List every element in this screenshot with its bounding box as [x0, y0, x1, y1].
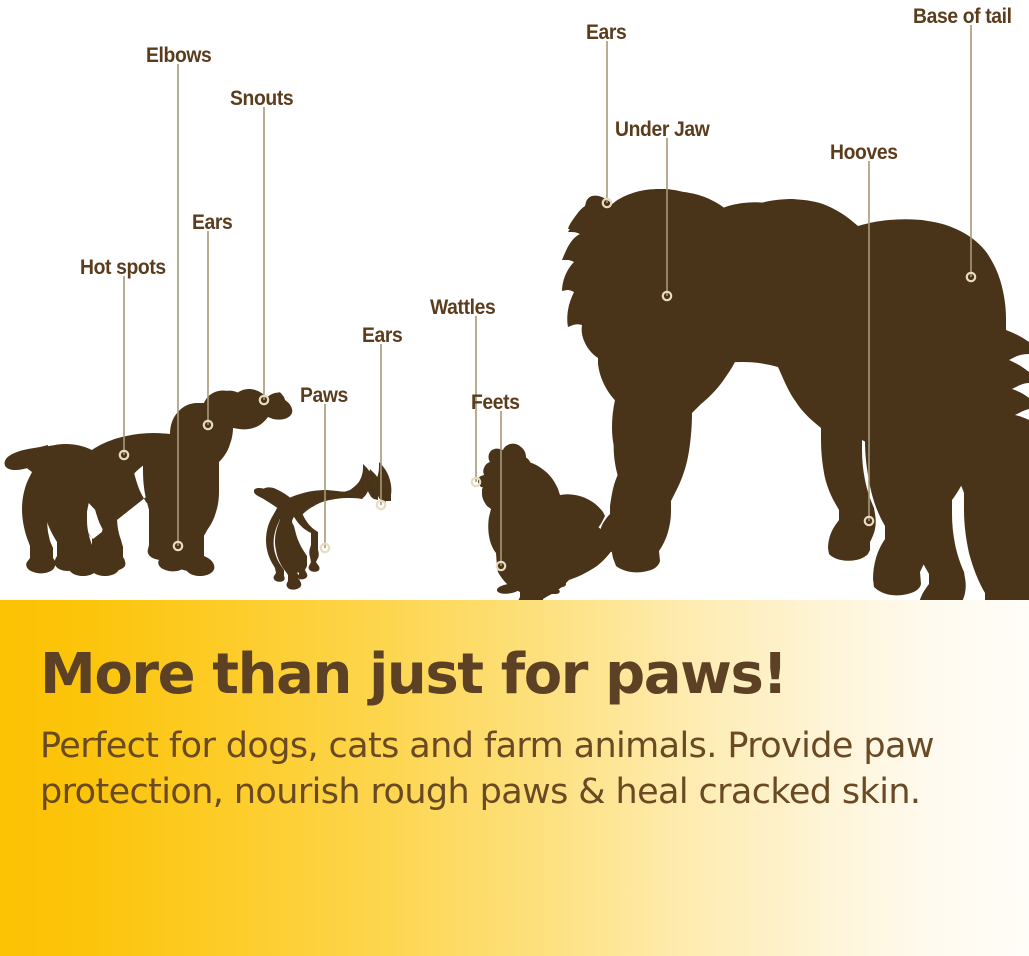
- callout-label-hot-spots: Hot spots: [80, 257, 166, 278]
- callout-label-wattles: Wattles: [430, 297, 495, 318]
- callout-label-feets: Feets: [471, 392, 520, 413]
- callout-label-under-jaw: Under Jaw: [615, 119, 709, 140]
- banner-headline: More than just for paws!: [40, 646, 990, 705]
- callout-label-base-of-tail: Base of tail: [913, 6, 1012, 27]
- callout-label-ears-cat: Ears: [362, 325, 402, 346]
- callout-label-hooves: Hooves: [830, 142, 898, 163]
- callout-label-paws: Paws: [300, 385, 348, 406]
- banner-subcopy: Perfect for dogs, cats and farm animals.…: [40, 723, 990, 816]
- product-infographic: Hot spotsElbowsEarsSnoutsPawsEarsWattles…: [0, 0, 1029, 956]
- callout-label-elbows: Elbows: [146, 45, 211, 66]
- animal-silhouettes-svg: [0, 0, 1029, 600]
- callout-label-snouts: Snouts: [230, 88, 293, 109]
- promo-banner: More than just for paws! Perfect for dog…: [0, 600, 1029, 956]
- animal-diagram-panel: Hot spotsElbowsEarsSnoutsPawsEarsWattles…: [0, 0, 1029, 600]
- banner-content: More than just for paws! Perfect for dog…: [40, 646, 990, 816]
- callout-label-ears-dog: Ears: [192, 212, 232, 233]
- callout-label-ears-horse: Ears: [586, 22, 626, 43]
